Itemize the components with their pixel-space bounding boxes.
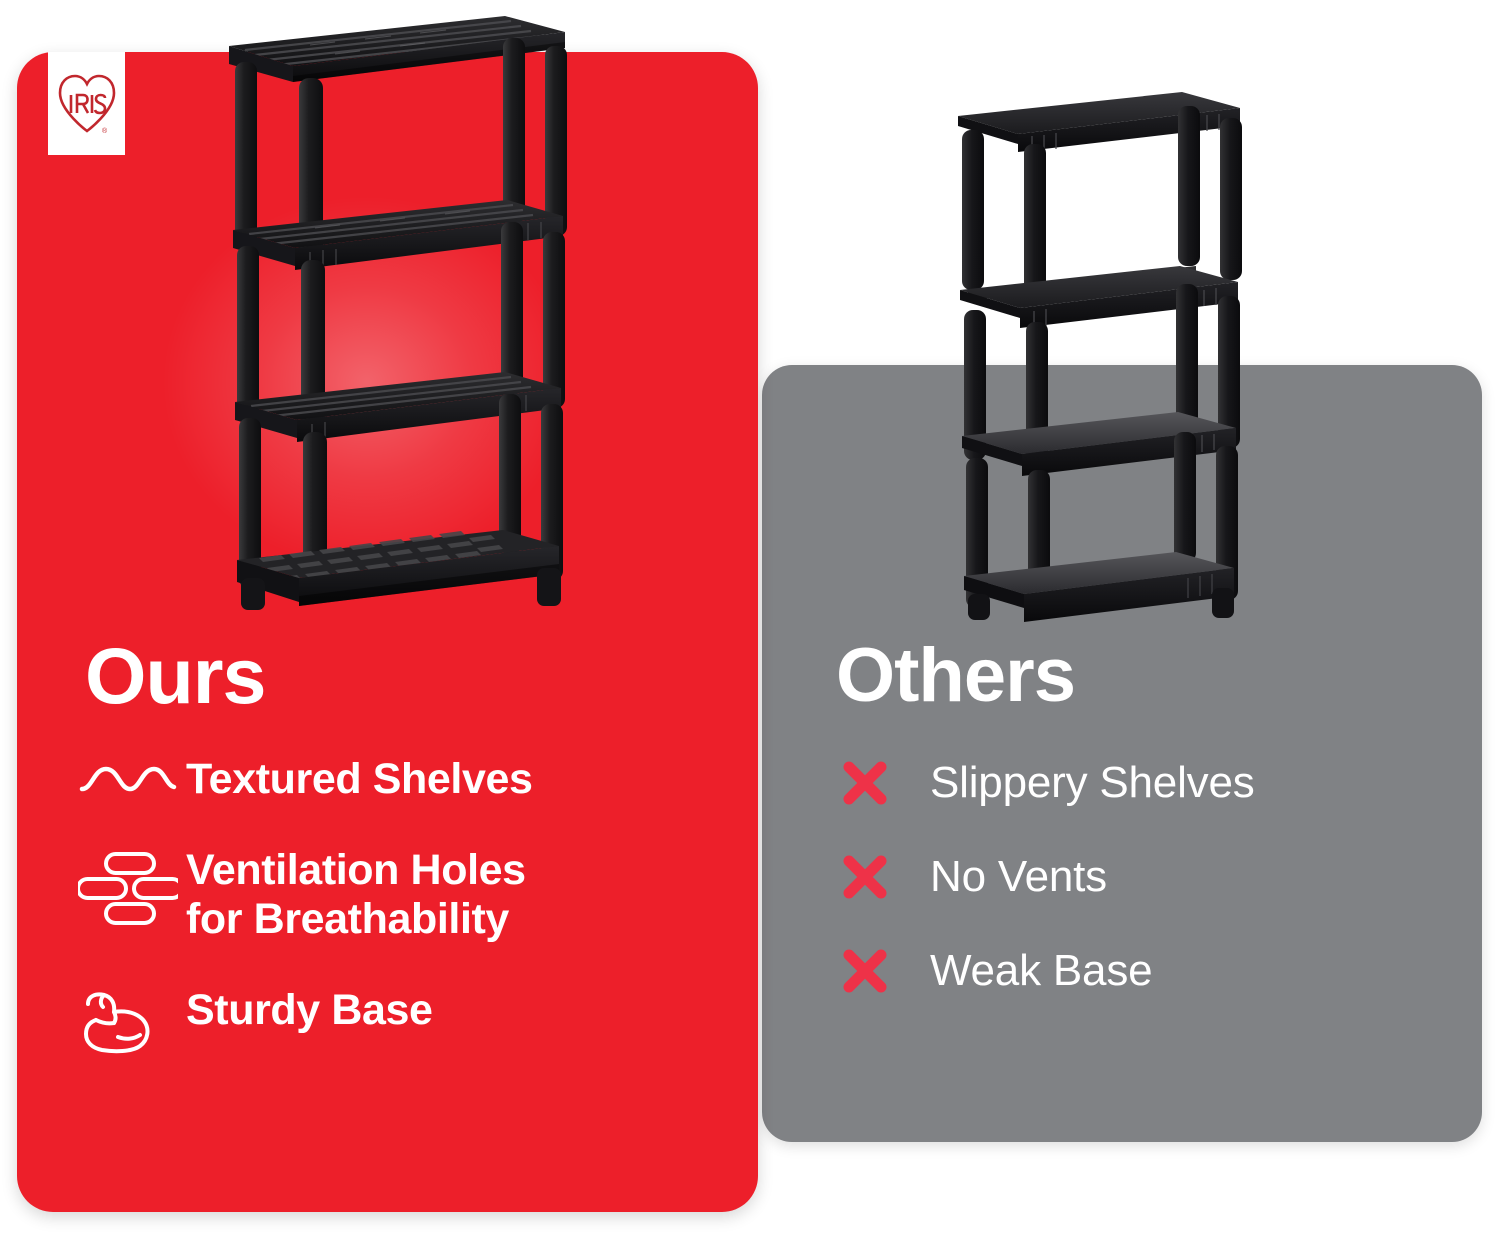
others-feature-label: Slippery Shelves — [930, 759, 1255, 807]
others-product-image — [940, 78, 1260, 638]
ours-feature-item-sturdy-base: Sturdy Base — [78, 986, 698, 1056]
ours-feature-label: Sturdy Base — [186, 986, 433, 1035]
ours-feature-item-ventilation-holes: Ventilation Holesfor Breathability — [78, 846, 698, 944]
shelf-bottom-smooth — [964, 552, 1234, 622]
others-feature-label: No Vents — [930, 853, 1107, 901]
ours-feature-label: Ventilation Holesfor Breathability — [186, 846, 526, 944]
flexed-bicep-icon — [78, 986, 186, 1056]
post-back-right — [503, 38, 525, 223]
x-mark-icon — [840, 758, 930, 808]
ventilation-slots-icon — [78, 846, 186, 928]
shelf-bottom — [237, 530, 559, 606]
ours-feature-item-textured-shelves: Textured Shelves — [78, 755, 698, 804]
iris-heart-logo-icon: ® — [56, 71, 118, 137]
comparison-infographic: ® — [0, 0, 1500, 1234]
logo-trademark: ® — [102, 127, 108, 135]
ours-product-image — [215, 8, 575, 633]
brand-logo-box: ® — [48, 52, 125, 155]
ours-feature-label-line1: Ventilation Holes — [186, 846, 526, 894]
others-feature-label: Weak Base — [930, 947, 1152, 995]
ours-heading: Ours — [85, 636, 265, 715]
others-feature-item-weak-base: Weak Base — [840, 946, 1440, 996]
post-front-left — [235, 62, 257, 247]
wave-texture-icon — [78, 755, 186, 799]
ours-feature-label-line2: for Breathability — [186, 895, 509, 943]
others-feature-list: Slippery Shelves No Vents — [840, 758, 1440, 1040]
post-front-right — [545, 46, 567, 236]
ours-feature-list: Textured Shelves Ventilation Holesfor Br… — [78, 755, 698, 1098]
ours-feature-label: Textured Shelves — [186, 755, 533, 804]
x-mark-icon — [840, 852, 930, 902]
others-feature-item-no-vents: No Vents — [840, 852, 1440, 902]
others-feature-item-slippery-shelves: Slippery Shelves — [840, 758, 1440, 808]
x-mark-icon — [840, 946, 930, 996]
others-heading: Others — [836, 638, 1075, 714]
